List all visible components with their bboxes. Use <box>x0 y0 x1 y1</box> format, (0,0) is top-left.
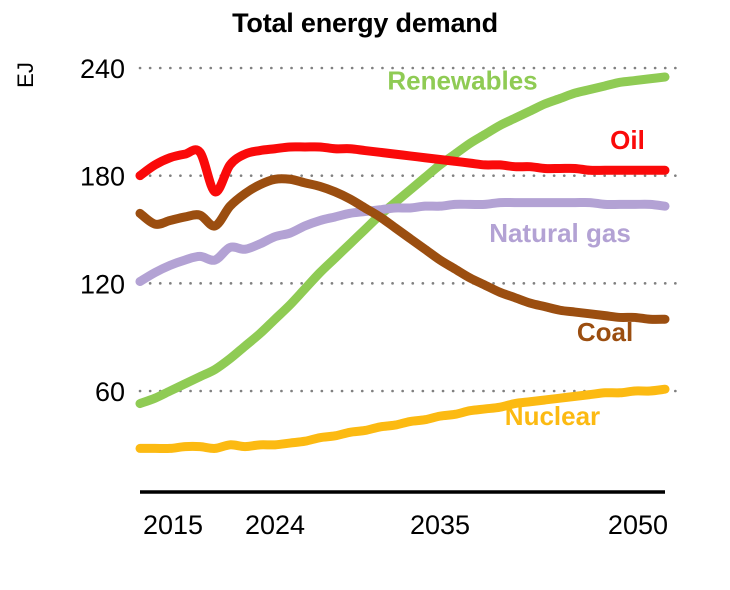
series-line-oil[interactable] <box>140 147 665 192</box>
x-axis-tick-label: 2035 <box>410 510 470 540</box>
y-axis-tick-label: 240 <box>80 54 125 84</box>
y-axis-tick-label: 120 <box>80 269 125 299</box>
x-axis-tick-label: 2050 <box>608 510 668 540</box>
series-label-oil: Oil <box>610 125 645 155</box>
x-axis-tick-label: 2015 <box>143 510 203 540</box>
y-axis-tick-label: 60 <box>95 377 125 407</box>
y-axis-tick-label: 180 <box>80 162 125 192</box>
line-chart-plot: 240180120602015202420352050RenewablesOil… <box>0 0 730 590</box>
series-label-natural-gas: Natural gas <box>489 218 631 248</box>
series-label-coal: Coal <box>577 317 633 347</box>
series-label-renewables: Renewables <box>387 66 537 96</box>
series-label-nuclear: Nuclear <box>505 401 600 431</box>
x-axis-tick-label: 2024 <box>245 510 305 540</box>
chart-container: Total energy demand EJ 24018012060201520… <box>0 0 730 590</box>
